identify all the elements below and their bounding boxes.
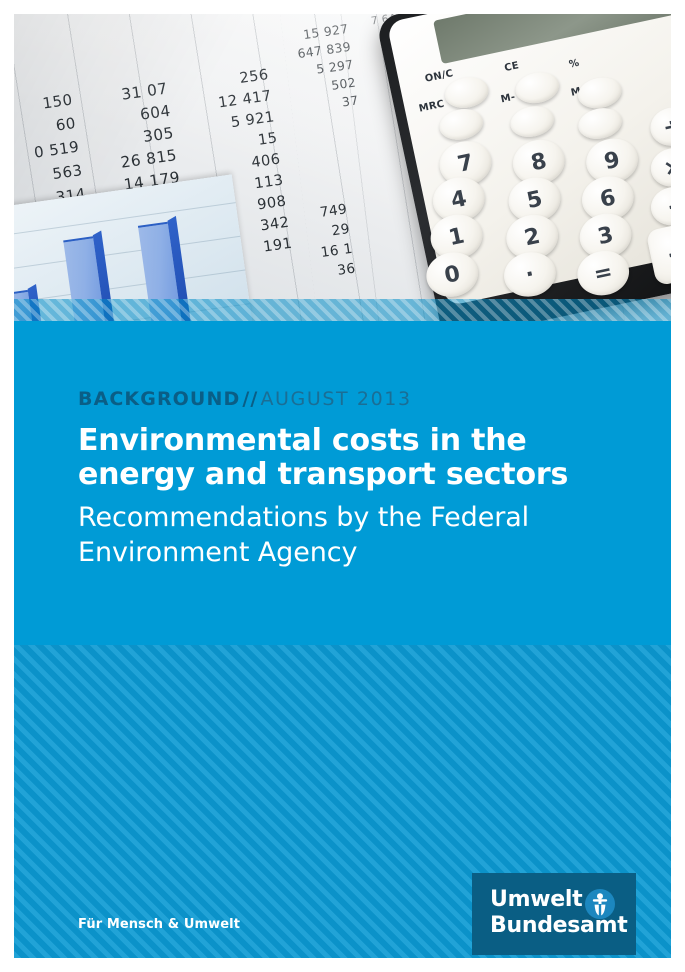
kicker-date: AUGUST 2013 — [260, 388, 411, 410]
calculator-key-multiply: × — [647, 144, 671, 190]
title-line-2: transport sectors — [278, 457, 568, 492]
calculator-key — [508, 102, 557, 140]
calculator-key — [513, 69, 562, 107]
calculator-key — [575, 104, 624, 142]
cover-photo: 150 60 0 519 563 314 26 704 12 581 225 1… — [14, 14, 671, 337]
calculator-key — [437, 105, 486, 143]
photo-bottom-blue-bar — [14, 321, 671, 337]
calculator-key-minus: - — [647, 183, 671, 229]
document-cover-page: 150 60 0 519 563 314 26 704 12 581 225 1… — [0, 0, 685, 972]
agency-tagline: Für Mensch & Umwelt — [78, 917, 240, 932]
kicker-category: BACKGROUND — [78, 388, 240, 410]
page-subtitle: Recommendations by the Federal Environme… — [78, 500, 598, 570]
kicker-separator: // — [242, 388, 258, 410]
calculator-key — [575, 74, 624, 112]
subtitle-line-2: Environment Agency — [78, 537, 357, 568]
document-kicker: BACKGROUND//AUGUST 2013 — [78, 388, 412, 410]
umweltbundesamt-figure-icon — [585, 889, 615, 919]
page-title: Environmental costs in the energy and tr… — [78, 424, 638, 492]
subtitle-line-1: Recommendations by the Federal — [78, 502, 529, 533]
calculator-key-divide: ÷ — [647, 103, 671, 149]
photo-hatched-overlay — [14, 299, 671, 321]
umweltbundesamt-logo: Umwelt Bundesamt — [472, 873, 636, 955]
